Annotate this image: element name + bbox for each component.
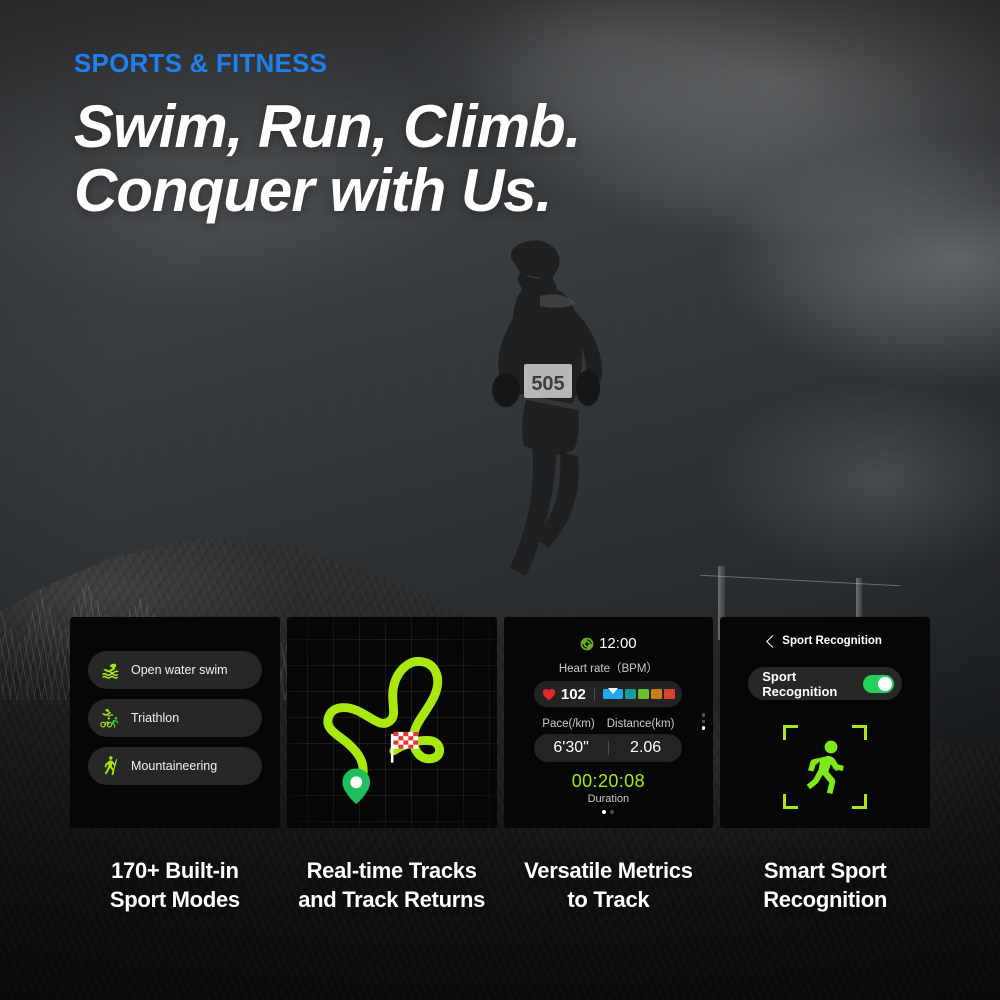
mountaineering-icon (100, 755, 122, 777)
duration-label: Duration (504, 793, 714, 805)
sport-recognition-header[interactable]: Sport Recognition (720, 635, 930, 647)
route-path (328, 661, 440, 779)
feature-cards-row: Open water swim (70, 617, 930, 828)
scroll-dot-3 (702, 726, 706, 730)
card-sport-modes: Open water swim (70, 617, 280, 828)
toggle-knob (878, 677, 892, 691)
heart-rate-value: 102 (561, 686, 586, 703)
hr-zone-5 (664, 689, 675, 699)
hr-zone-3 (638, 689, 649, 699)
scan-corner-top-right (852, 725, 867, 740)
sport-mode-item-open-water-swim[interactable]: Open water swim (88, 651, 262, 689)
pace-distance-pill[interactable]: 6'30" 2.06 (534, 734, 682, 762)
caption-sport-recognition: Smart Sport Recognition (720, 856, 930, 942)
hr-zone-marker (608, 688, 618, 694)
heart-icon (542, 688, 556, 701)
caption-sport-modes: 170+ Built-in Sport Modes (70, 856, 280, 942)
setting-label: Sport Recognition (762, 669, 863, 699)
gps-signal-icon (580, 637, 594, 651)
sport-mode-label: Mountaineering (131, 759, 217, 773)
scroll-dot-2 (702, 720, 706, 724)
feature-captions-row: 170+ Built-in Sport Modes Real-time Trac… (70, 856, 930, 942)
page-title: Swim, Run, Climb. Conquer with Us. (74, 95, 580, 222)
sport-mode-item-triathlon[interactable]: Triathlon (88, 699, 262, 737)
screen-title: Sport Recognition (782, 635, 882, 647)
sport-recognition-scan-frame (783, 725, 867, 809)
scan-corner-top-left (783, 725, 798, 740)
sport-mode-label: Triathlon (131, 711, 179, 725)
triathlon-icon (100, 707, 122, 729)
sport-recognition-toggle[interactable] (863, 675, 894, 693)
heart-rate-label: Heart rate（BPM） (504, 660, 714, 676)
page-indicator-dots[interactable] (504, 810, 714, 814)
pace-distance-labels: Pace(/km) Distance(km) (504, 718, 714, 730)
divider (594, 687, 595, 701)
sport-mode-label: Open water swim (131, 663, 228, 677)
sport-mode-item-mountaineering[interactable]: Mountaineering (88, 747, 262, 785)
location-pin-icon (342, 769, 370, 805)
scan-corner-bottom-right (852, 794, 867, 809)
card-sport-recognition: Sport Recognition Sport Recognition (720, 617, 930, 828)
hr-zone-4 (651, 689, 662, 699)
hr-zone-2 (625, 689, 636, 699)
eyebrow-label: SPORTS & FITNESS (74, 48, 580, 79)
heart-rate-pill[interactable]: 102 (534, 681, 682, 707)
page-dot-2[interactable] (610, 810, 614, 814)
pace-value: 6'30" (534, 739, 608, 757)
distance-value: 2.06 (609, 739, 683, 757)
sport-mode-list: Open water swim (88, 651, 262, 785)
time-row: 12:00 (504, 635, 714, 652)
gps-track-map[interactable] (287, 617, 497, 828)
caption-metrics: Versatile Metrics to Track (504, 856, 714, 942)
scroll-dot-1 (702, 713, 706, 717)
workout-metrics-screen: 12:00 Heart rate（BPM） 102 (504, 635, 714, 814)
sport-recognition-setting-row[interactable]: Sport Recognition (748, 667, 902, 700)
hr-zone-1 (603, 689, 623, 699)
open-water-swim-icon (100, 659, 122, 681)
current-time: 12:00 (599, 635, 637, 652)
running-figure-icon (798, 739, 852, 795)
checkered-flag-icon (391, 732, 418, 763)
scan-corner-bottom-left (783, 794, 798, 809)
card-metrics: 12:00 Heart rate（BPM） 102 (504, 617, 714, 828)
hero-copy: SPORTS & FITNESS Swim, Run, Climb. Conqu… (74, 48, 580, 222)
page-dot-1[interactable] (602, 810, 606, 814)
pace-label: Pace(/km) (542, 718, 594, 730)
vertical-scroll-dots[interactable] (702, 713, 706, 730)
heart-rate-zone-bar (603, 689, 675, 699)
duration-value: 00:20:08 (504, 771, 714, 792)
card-track-map (287, 617, 497, 828)
back-chevron-icon[interactable] (766, 635, 779, 648)
distance-label: Distance(km) (607, 718, 675, 730)
caption-track-map: Real-time Tracks and Track Returns (287, 856, 497, 942)
heart-rate-group: 102 (542, 686, 586, 703)
